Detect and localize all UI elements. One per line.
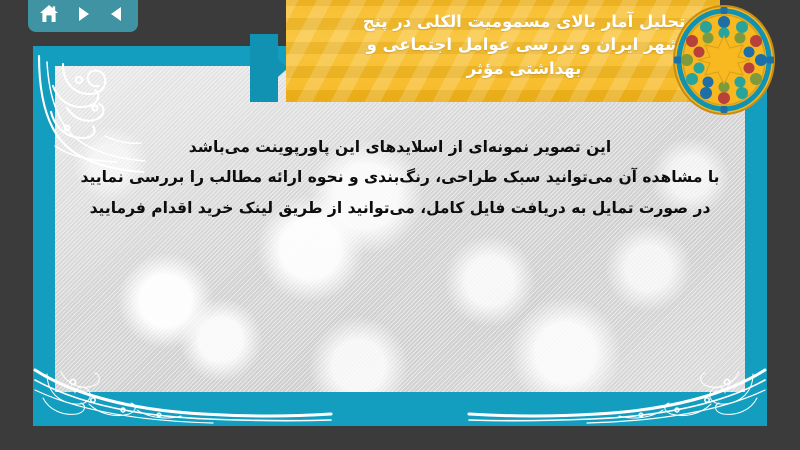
slide-title-line-2: شهر ایران و بررسی عوامل اجتماعی و [363, 33, 686, 56]
slide-content-area [55, 66, 745, 392]
next-slide-button[interactable] [71, 2, 95, 26]
body-line-2: با مشاهده آن می‌توانید سبک طراحی، رنگ‌بن… [60, 162, 740, 192]
slide-title-line-3: بهداشتی مؤثر [363, 57, 686, 80]
slide-title-ribbon: تحلیل آمار بالای مسمومیت الکلی در پنج شه… [250, 0, 720, 102]
triangle-right-icon [73, 4, 93, 24]
previous-slide-button[interactable] [105, 2, 129, 26]
body-line-1: این تصویر نمونه‌ای از اسلایدهای این پاور… [60, 132, 740, 162]
home-icon [38, 3, 60, 25]
triangle-left-icon [107, 4, 127, 24]
slide-body-text: این تصویر نمونه‌ای از اسلایدهای این پاور… [0, 132, 800, 223]
slide-navigation-bar [28, 0, 138, 32]
slide-title: تحلیل آمار بالای مسمومیت الکلی در پنج شه… [307, 10, 700, 80]
slide-title-line-1: تحلیل آمار بالای مسمومیت الکلی در پنج [363, 10, 686, 33]
body-line-3: در صورت تمایل به دریافت فایل کامل، می‌تو… [60, 193, 740, 223]
slide-frame [33, 46, 767, 426]
home-button[interactable] [37, 2, 61, 26]
ribbon-arrow-tail [250, 34, 288, 102]
persian-medallion-ornament [672, 4, 776, 116]
ribbon-body: تحلیل آمار بالای مسمومیت الکلی در پنج شه… [286, 0, 720, 102]
slide-viewer: این تصویر نمونه‌ای از اسلایدهای این پاور… [0, 0, 800, 450]
